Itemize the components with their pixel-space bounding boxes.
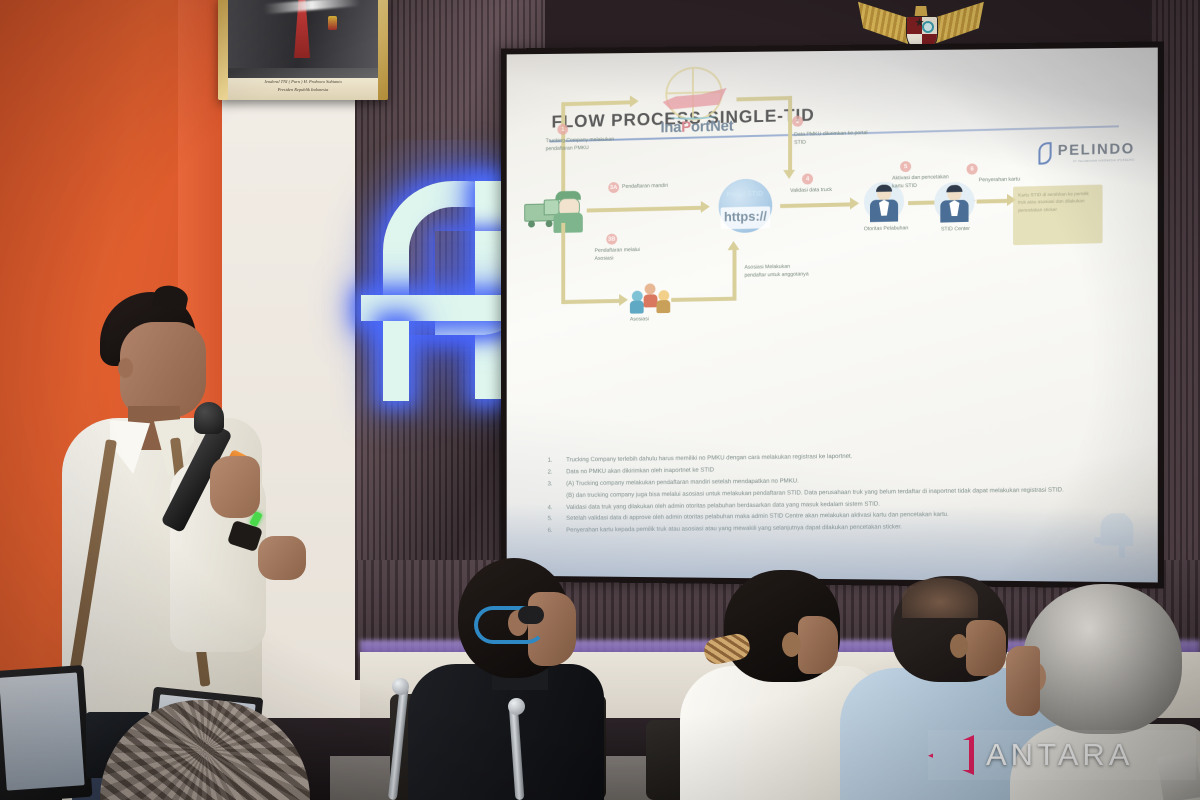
list-number: 3.	[548, 478, 558, 490]
step-badge: 4	[802, 173, 813, 184]
arrow-segment	[561, 223, 565, 304]
arrow-segment	[561, 100, 632, 106]
final-note-box: Kartu STID di serahkan ke pemilik truk a…	[1013, 185, 1102, 246]
arrow-segment	[587, 206, 703, 213]
laptop[interactable]	[0, 665, 92, 800]
cap-pattern	[100, 700, 310, 800]
step-label: Trucking Company melakukan pendaftaran P…	[546, 136, 622, 153]
arrow-segment	[977, 199, 1011, 204]
node-stid-center	[934, 182, 974, 223]
antara-wordmark: ANTARA	[986, 737, 1133, 773]
presenter-ear	[118, 358, 133, 378]
presenter-hand	[210, 456, 260, 518]
node-asosiasi-label: Asosiasi	[630, 316, 649, 324]
antara-watermark: ANTARA	[928, 730, 1196, 780]
arrow-head-icon	[728, 241, 740, 250]
framed-portrait: Jenderal TNI ( Purn ) H. Prabowo Subiant…	[218, 0, 388, 100]
arrow-head-icon	[701, 201, 710, 213]
arrow-segment	[788, 96, 792, 172]
step-label: Validasi data truck	[790, 186, 856, 195]
arrow-segment	[733, 249, 737, 299]
chair-knob	[508, 698, 525, 715]
chair-knob	[392, 678, 409, 695]
headset-earpiece-icon	[518, 606, 544, 624]
arrow-segment	[780, 202, 852, 208]
audience-member-headset	[400, 552, 650, 800]
portrait-caption-line1: Jenderal TNI ( Purn ) H. Prabowo Subiant…	[228, 78, 378, 86]
step-badge: 2	[792, 116, 803, 127]
portrait-caption: Jenderal TNI ( Purn ) H. Prabowo Subiant…	[228, 78, 378, 100]
microphone-head-icon	[194, 402, 224, 434]
arrow-head-icon	[619, 294, 628, 306]
step-label: Penyerahan kartu	[979, 176, 1030, 185]
people-group-icon	[629, 282, 672, 315]
audience-head	[1022, 584, 1182, 734]
arrow-segment	[671, 297, 736, 302]
projection-screen: FLOW PROCESS SINGLE-TID PELINDO PT PELAB…	[501, 41, 1164, 588]
audience-face	[1006, 646, 1040, 716]
presenter-face	[120, 322, 206, 418]
step-badge: 6	[967, 163, 978, 174]
step-label: Asosiasi Melakukan pendaftar untuk anggo…	[744, 263, 810, 279]
antara-logo-icon	[928, 735, 974, 775]
step-badge: 1	[557, 124, 568, 135]
driver-icon	[553, 191, 582, 233]
arrow-segment	[561, 299, 622, 304]
step-badge: 5	[900, 161, 911, 172]
arrow-head-icon	[783, 170, 795, 179]
node-inaportnet: InaPortNet	[644, 65, 751, 143]
arrow-head-icon	[630, 95, 639, 107]
node-otoritas-label: Otoritas Pelabuhan	[858, 225, 914, 234]
presentation-slide: FLOW PROCESS SINGLE-TID PELINDO PT PELAB…	[507, 48, 1158, 583]
step-label: Pendaftaran mandiri	[622, 182, 691, 191]
conference-room-photo: Jenderal TNI ( Purn ) H. Prabowo Subiant…	[0, 0, 1200, 800]
step-label: Data PMKU dikirimkan ke portal STID	[794, 130, 874, 147]
node-inaportnet-label: InaPortNet	[644, 117, 751, 137]
node-portal-stid: Portal STID https://	[715, 178, 776, 241]
audience-ear	[950, 634, 968, 658]
audience-ear	[782, 632, 801, 657]
audience-scalp	[902, 578, 978, 618]
arrow-head-icon	[850, 197, 859, 209]
list-number: 1.	[548, 455, 558, 467]
final-note-text: Kartu STID di serahkan ke pemilik truk a…	[1013, 185, 1102, 220]
arrow-segment	[736, 96, 792, 101]
audience-face	[798, 616, 838, 674]
flow-diagram: InaPortNet 1 Trucking Company melakukan …	[507, 48, 1158, 456]
presenter-hand	[258, 536, 306, 580]
step-badge: 3B	[606, 234, 617, 245]
audience-face	[966, 620, 1006, 676]
node-stid-center-label: STID Center	[926, 226, 985, 235]
step-label: Pendaftaran melalui Asosiasi	[595, 247, 658, 263]
list-number: 2.	[548, 466, 558, 478]
portal-stid-sub: Portal STID	[727, 191, 764, 199]
portal-stid-label: https://	[719, 208, 773, 224]
portrait-caption-line2: Presiden Republik Indonesia	[228, 86, 378, 94]
audience-member-cap-foreground	[100, 700, 320, 800]
step-badge: 3A	[608, 182, 619, 193]
